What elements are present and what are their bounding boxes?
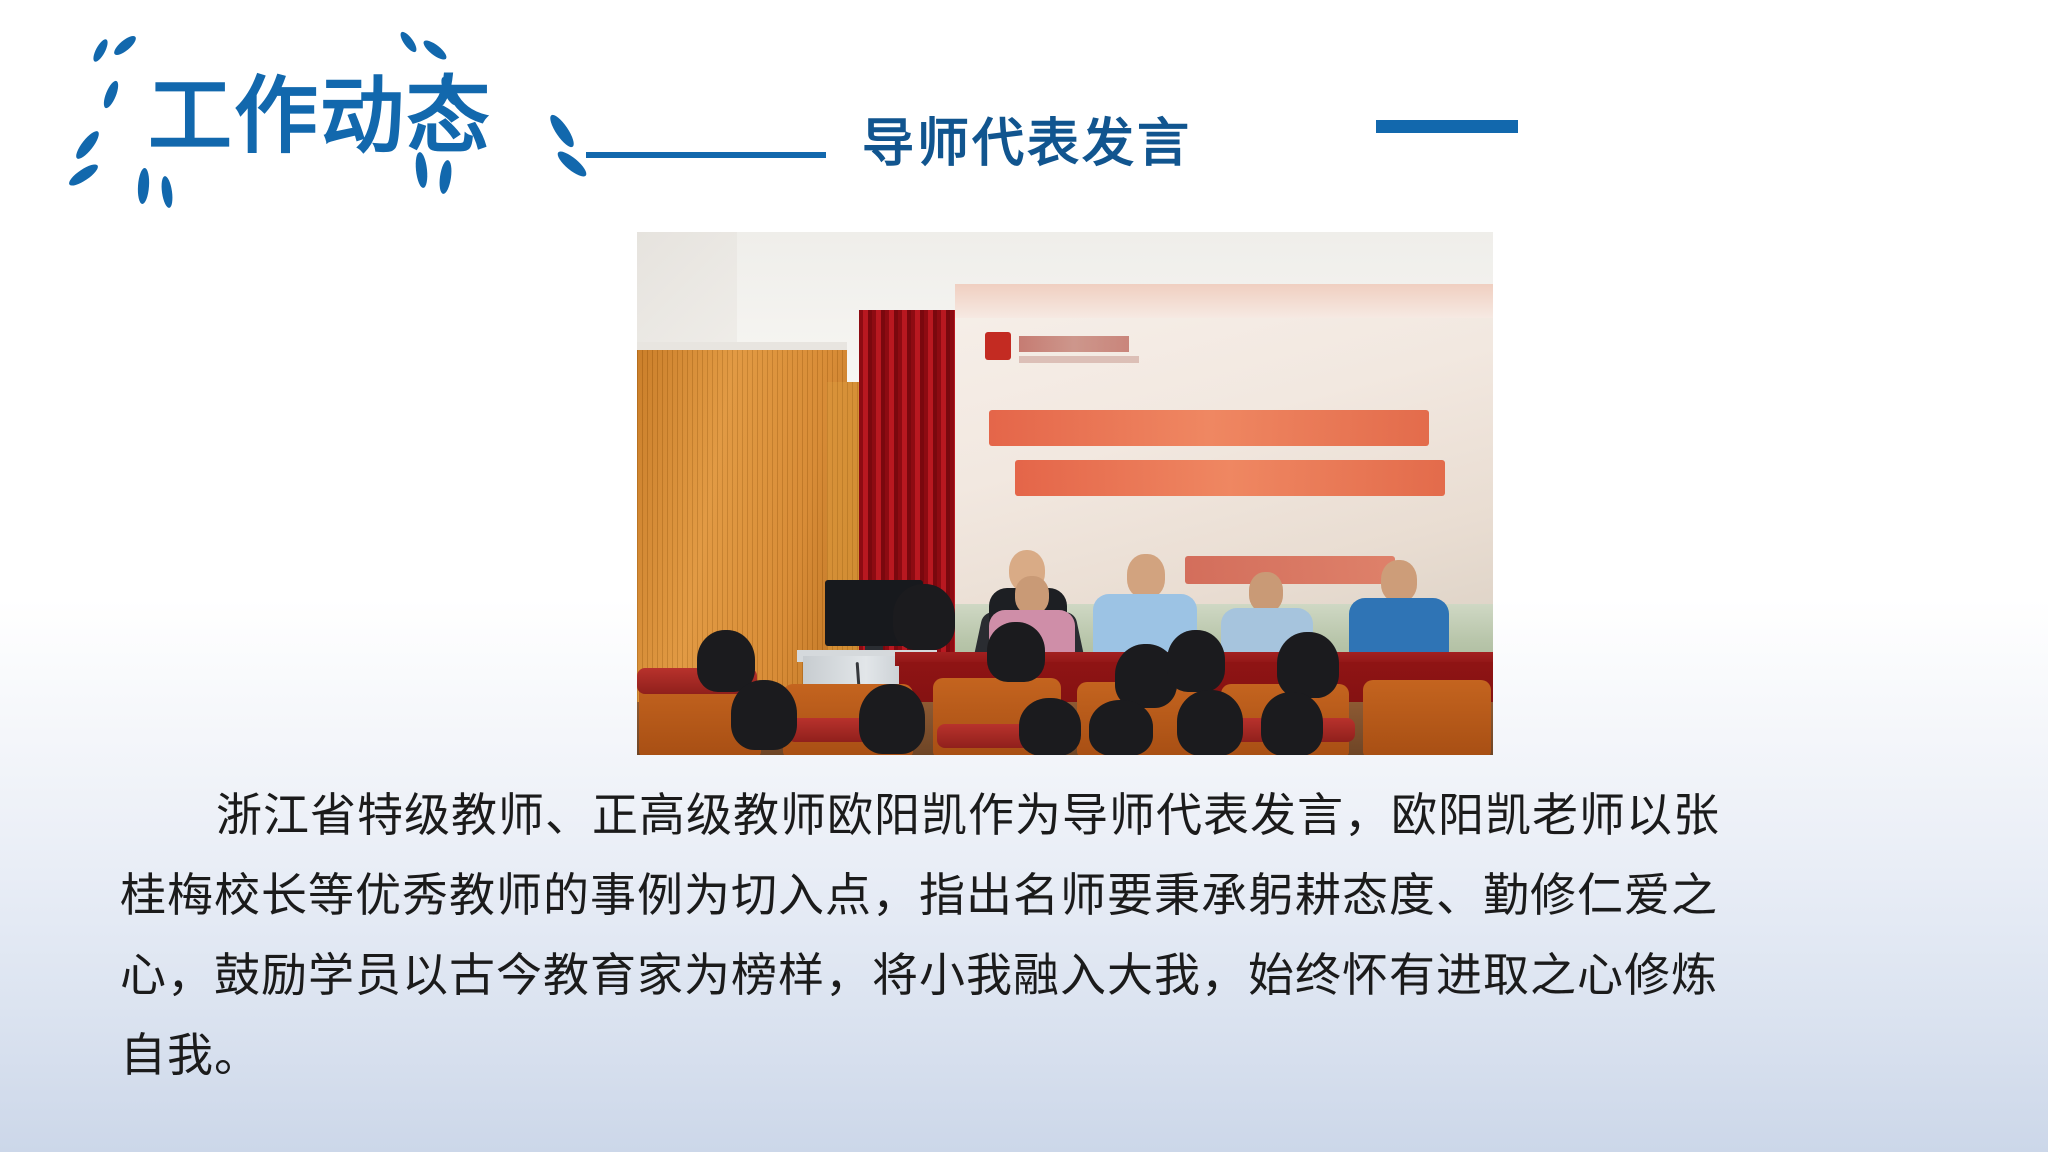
photo-audience-chair — [1363, 680, 1491, 755]
leaf-ornament-icon — [91, 37, 111, 63]
photo-audience-head — [1177, 690, 1243, 755]
leaf-ornament-icon — [73, 128, 103, 162]
photo-university-logo-subtext — [1019, 356, 1139, 363]
title-connector-line — [586, 152, 826, 158]
photo-slide-headline-1 — [989, 410, 1429, 446]
photo-audience-head — [987, 622, 1045, 682]
photo-slide-date — [1185, 556, 1395, 584]
paragraph-line: 自我。 — [120, 1015, 1930, 1095]
leaf-ornament-icon — [111, 33, 138, 58]
leaf-ornament-icon — [554, 148, 589, 180]
event-photo — [637, 232, 1493, 755]
photo-audience-head — [1261, 692, 1323, 755]
photo-audience-head — [1089, 700, 1153, 755]
slide-canvas: 工作动态 导师代表发言 — [0, 0, 2048, 1152]
photo-slide-headline-2 — [1015, 460, 1445, 496]
photo-audience-head — [731, 680, 797, 750]
photo-audience-head — [1277, 632, 1339, 698]
photo-audience-head — [859, 684, 925, 754]
photo-audience-head — [893, 584, 955, 650]
photo-university-logo-icon — [985, 332, 1011, 360]
body-paragraph: 浙江省特级教师、正高级教师欧阳凯作为导师代表发言，欧阳凯老师以张 桂梅校长等优秀… — [120, 775, 1930, 1095]
slide-header: 工作动态 导师代表发言 — [0, 0, 2048, 230]
page-title: 工作动态 — [148, 74, 492, 158]
leaf-ornament-icon — [546, 112, 577, 150]
accent-dash — [1376, 120, 1518, 133]
photo-screen-top-band — [955, 284, 1493, 318]
leaf-ornament-icon — [66, 161, 100, 189]
photo-audience-head — [1167, 630, 1225, 692]
photo-university-logo-text — [1019, 336, 1129, 352]
paragraph-line: 桂梅校长等优秀教师的事例为切入点，指出名师要秉承躬耕态度、勤修仁爱之 — [120, 855, 1930, 935]
paragraph-line: 心，鼓励学员以古今教育家为榜样，将小我融入大我，始终怀有进取之心修炼 — [120, 935, 1930, 1015]
leaf-ornament-icon — [137, 168, 150, 205]
leaf-ornament-icon — [101, 79, 121, 110]
slide-subtitle: 导师代表发言 — [862, 101, 1192, 176]
leaf-ornament-icon — [421, 37, 449, 62]
paragraph-line: 浙江省特级教师、正高级教师欧阳凯作为导师代表发言，欧阳凯老师以张 — [120, 775, 1930, 855]
leaf-ornament-icon — [160, 175, 174, 208]
leaf-ornament-icon — [398, 30, 419, 55]
photo-audience-head — [697, 630, 755, 692]
photo-audience-head — [1019, 698, 1081, 755]
